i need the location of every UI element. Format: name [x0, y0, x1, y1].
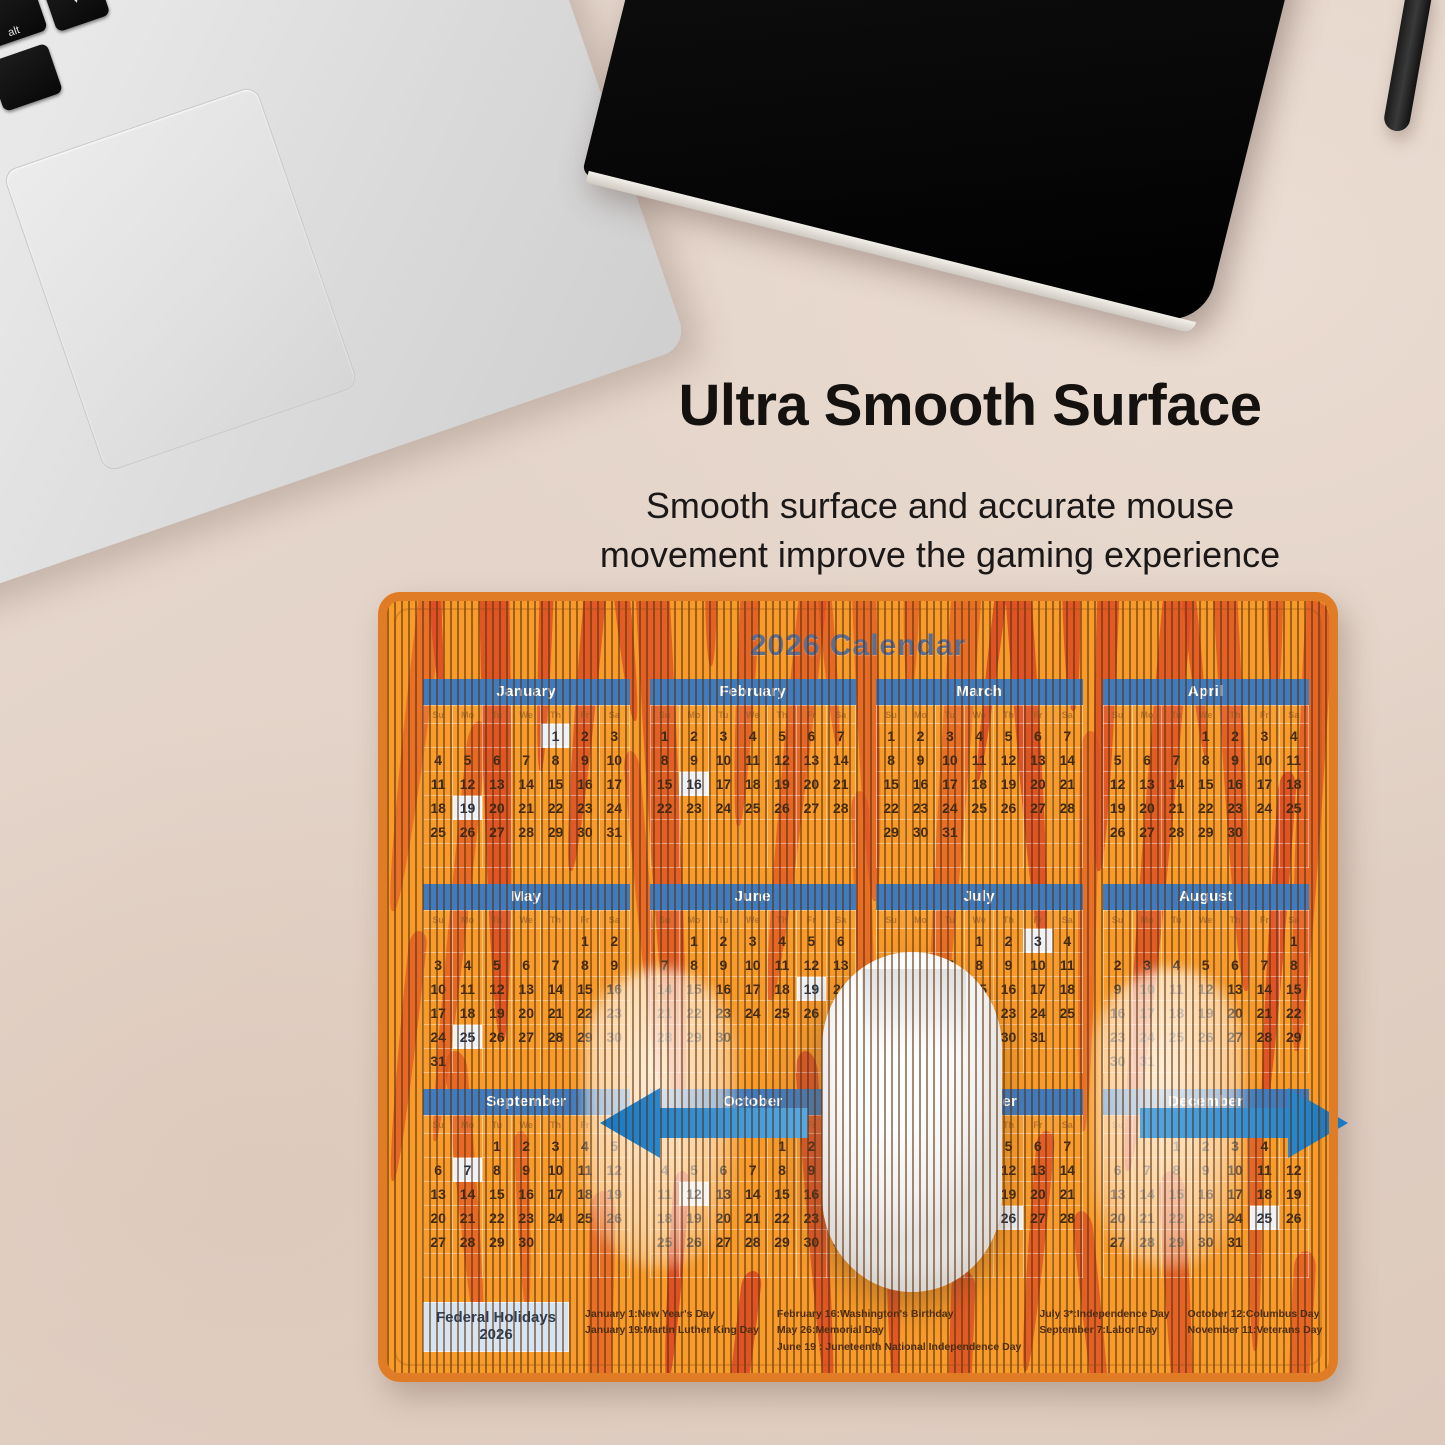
weekday-header: Th — [541, 1116, 570, 1134]
weekday-header: We — [965, 911, 994, 929]
day-cell: 16 — [994, 977, 1023, 1001]
day-cell: 2 — [1103, 953, 1132, 977]
day-cell-empty — [650, 844, 679, 868]
week-row: 123456 — [650, 929, 856, 953]
day-cell: 8 — [482, 1158, 511, 1182]
day-cell: 14 — [541, 977, 570, 1001]
day-cell: 15 — [650, 772, 679, 796]
day-cell-empty — [994, 820, 1023, 844]
arrow-down-key-icon: ▼ — [41, 0, 111, 33]
badge-line-1: Federal Holidays — [436, 1309, 556, 1326]
week-row: 123 — [424, 724, 630, 748]
week-row: 3456789 — [424, 953, 630, 977]
day-cell: 5 — [1103, 748, 1132, 772]
day-cell: 6 — [1023, 1134, 1052, 1158]
day-cell: 17 — [541, 1182, 570, 1206]
day-cell: 22 — [1191, 796, 1220, 820]
day-cell: 10 — [424, 977, 453, 1001]
day-cell: 24 — [935, 796, 964, 820]
day-cell: 3 — [709, 724, 738, 748]
holiday-column: February 16:Washington's BirthdayMay 26:… — [777, 1306, 1021, 1355]
day-cell: 17 — [600, 772, 629, 796]
arrow-left-icon — [598, 1086, 808, 1165]
day-cell: 6 — [424, 1158, 453, 1182]
day-cell: 17 — [1250, 772, 1279, 796]
weekday-header: Mo — [453, 911, 482, 929]
week-row: 22232425262728 — [650, 796, 856, 820]
day-cell: 24 — [1250, 796, 1279, 820]
weekday-header: Fr — [797, 706, 826, 724]
day-cell: 21 — [1162, 796, 1191, 820]
day-cell: 1 — [482, 1134, 511, 1158]
day-cell-empty — [453, 929, 482, 953]
day-cell-empty — [453, 1254, 482, 1278]
calendar-month: FebruarySuMoTuWeThFrSa123456789101112131… — [650, 679, 857, 868]
day-cell: 14 — [1053, 1158, 1082, 1182]
day-cell-empty — [738, 820, 767, 844]
day-cell-empty — [1220, 929, 1249, 953]
day-cell: 20 — [512, 1001, 541, 1025]
day-cell: 13 — [797, 748, 826, 772]
day-cell: 26 — [1103, 820, 1132, 844]
day-cell-empty — [570, 1230, 599, 1254]
day-cell: 15 — [1279, 977, 1308, 1001]
day-cell: 7 — [1162, 748, 1191, 772]
day-cell: 5 — [797, 929, 826, 953]
day-cell-empty — [1220, 844, 1249, 868]
day-cell-holiday: 16 — [679, 772, 708, 796]
weekday-header: We — [965, 706, 994, 724]
day-cell: 29 — [1191, 820, 1220, 844]
day-cell: 4 — [424, 748, 453, 772]
day-cell: 21 — [826, 772, 855, 796]
day-cell: 24 — [541, 1206, 570, 1230]
day-cell-empty — [709, 844, 738, 868]
month-name: May — [423, 884, 630, 910]
page-title: Ultra Smooth Surface — [560, 372, 1380, 439]
weekday-header: Su — [650, 706, 679, 724]
day-cell: 22 — [877, 796, 906, 820]
weekday-header: Sa — [1279, 911, 1308, 929]
day-cell: 26 — [767, 796, 796, 820]
week-row — [424, 844, 630, 868]
subtitle-line-2: movement improve the gaming experience — [500, 531, 1380, 580]
day-cell: 14 — [453, 1182, 482, 1206]
day-cell: 20 — [797, 772, 826, 796]
day-cell-empty — [424, 724, 453, 748]
day-cell-empty — [600, 844, 629, 868]
day-cell: 4 — [1279, 724, 1308, 748]
day-cell: 19 — [482, 1001, 511, 1025]
day-cell: 13 — [1023, 1158, 1052, 1182]
day-cell: 1 — [1191, 724, 1220, 748]
day-cell-empty — [767, 820, 796, 844]
week-row — [1103, 844, 1309, 868]
day-cell-holiday: 3 — [1023, 929, 1052, 953]
day-cell-empty — [424, 1254, 453, 1278]
day-cell: 3 — [935, 724, 964, 748]
day-cell: 13 — [482, 772, 511, 796]
day-cell: 25 — [1053, 1001, 1082, 1025]
weekday-header: We — [738, 911, 767, 929]
week-row — [650, 820, 856, 844]
day-cell-empty — [650, 929, 679, 953]
day-cell: 22 — [650, 796, 679, 820]
day-cell: 31 — [1023, 1025, 1052, 1049]
day-cell: 8 — [570, 953, 599, 977]
day-cell-empty — [1053, 1049, 1082, 1073]
day-cell: 16 — [570, 772, 599, 796]
computer-mouse[interactable] — [822, 952, 1002, 1292]
weekday-header: Su — [424, 1116, 453, 1134]
day-cell-empty — [424, 844, 453, 868]
holiday-entry: June 19 : Juneteenth National Independen… — [777, 1339, 1021, 1355]
weekday-header: Mo — [453, 1116, 482, 1134]
day-cell: 9 — [906, 748, 935, 772]
day-cell-empty — [1162, 929, 1191, 953]
weekday-header: Sa — [1053, 911, 1082, 929]
day-cell-empty — [1191, 844, 1220, 868]
day-cell-empty — [650, 820, 679, 844]
day-cell-empty — [1132, 929, 1161, 953]
weekday-header: Sa — [1053, 1116, 1082, 1134]
week-row: 15161718192021 — [877, 772, 1083, 796]
weekday-header: Fr — [1023, 706, 1052, 724]
day-cell-empty — [1023, 844, 1052, 868]
day-cell: 14 — [1250, 977, 1279, 1001]
day-cell: 19 — [767, 772, 796, 796]
day-cell-empty — [1023, 1254, 1052, 1278]
day-cell-empty — [877, 929, 906, 953]
day-cell: 28 — [1162, 820, 1191, 844]
weekday-header: Su — [1103, 706, 1132, 724]
weekday-header: We — [1191, 911, 1220, 929]
day-cell: 5 — [453, 748, 482, 772]
day-cell: 23 — [1220, 796, 1249, 820]
day-cell-empty — [1250, 1254, 1279, 1278]
day-cell: 24 — [1023, 1001, 1052, 1025]
day-cell: 2 — [709, 929, 738, 953]
drip — [387, 931, 428, 1181]
month-grid: SuMoTuWeThFrSa12345678910111213141516171… — [650, 705, 857, 868]
week-row: 19202122232425 — [1103, 796, 1309, 820]
weekday-header: We — [512, 1116, 541, 1134]
week-row: 293031 — [877, 820, 1083, 844]
weekday-header: Sa — [1279, 706, 1308, 724]
day-cell-empty — [1162, 844, 1191, 868]
day-cell-empty — [738, 844, 767, 868]
weekday-header: Mo — [1132, 911, 1161, 929]
day-cell: 1 — [679, 929, 708, 953]
calendar-title: 2026 Calendar — [387, 629, 1329, 663]
day-cell-empty — [1279, 1230, 1308, 1254]
weekday-header: Sa — [1053, 706, 1082, 724]
weekday-header: Th — [994, 911, 1023, 929]
day-cell-empty — [424, 1134, 453, 1158]
day-cell: 6 — [482, 748, 511, 772]
day-cell: 27 — [1023, 796, 1052, 820]
day-cell-empty — [1279, 1254, 1308, 1278]
day-cell: 24 — [709, 796, 738, 820]
day-cell-empty — [424, 929, 453, 953]
day-cell-empty — [512, 724, 541, 748]
day-cell: 30 — [906, 820, 935, 844]
day-cell-empty — [512, 844, 541, 868]
holiday-entry: September 7:Labor Day — [1039, 1322, 1169, 1338]
day-cell-empty — [1023, 1230, 1052, 1254]
day-cell: 19 — [1103, 796, 1132, 820]
day-cell: 5 — [767, 724, 796, 748]
day-cell: 25 — [424, 820, 453, 844]
day-cell-empty — [512, 1049, 541, 1073]
week-row — [424, 1254, 630, 1278]
day-cell-empty — [541, 844, 570, 868]
holiday-column: January 1:New Year's DayJanuary 19:Marti… — [585, 1306, 759, 1355]
weekday-header: Th — [541, 911, 570, 929]
weekday-header: Tu — [482, 1116, 511, 1134]
keyboard-key — [0, 43, 63, 112]
day-cell-empty — [797, 844, 826, 868]
day-cell: 17 — [424, 1001, 453, 1025]
day-cell: 21 — [1053, 1182, 1082, 1206]
day-cell: 17 — [1023, 977, 1052, 1001]
day-cell: 20 — [1023, 772, 1052, 796]
day-cell: 14 — [1162, 772, 1191, 796]
weekday-header: Mo — [906, 706, 935, 724]
day-cell: 28 — [541, 1025, 570, 1049]
weekday-header: We — [512, 706, 541, 724]
day-cell: 25 — [738, 796, 767, 820]
day-cell-empty — [1250, 844, 1279, 868]
day-cell: 8 — [541, 748, 570, 772]
day-cell: 2 — [994, 929, 1023, 953]
day-cell: 27 — [1132, 820, 1161, 844]
holiday-entry: May 26:Memorial Day — [777, 1322, 1021, 1338]
day-cell-empty — [541, 1230, 570, 1254]
day-cell: 18 — [1053, 977, 1082, 1001]
month-name: March — [876, 679, 1083, 705]
day-cell: 7 — [826, 724, 855, 748]
week-row: 22232425262728 — [877, 796, 1083, 820]
holiday-column: July 3*:Independence DaySeptember 7:Labo… — [1039, 1306, 1169, 1355]
day-cell: 29 — [877, 820, 906, 844]
day-cell-empty — [797, 820, 826, 844]
weekday-header: We — [738, 706, 767, 724]
day-cell-empty — [1103, 844, 1132, 868]
holiday-entry: November 11:Veterans Day — [1188, 1322, 1323, 1338]
keyboard-key-label: alt — [7, 24, 22, 39]
day-cell-empty — [1053, 1254, 1082, 1278]
day-cell-empty — [709, 1254, 738, 1278]
day-cell: 27 — [512, 1025, 541, 1049]
day-cell: 23 — [906, 796, 935, 820]
week-row: 11121314151617 — [424, 772, 630, 796]
day-cell: 4 — [767, 929, 796, 953]
week-row: 567891011 — [1103, 748, 1309, 772]
weekday-header: Su — [424, 706, 453, 724]
day-cell: 22 — [482, 1206, 511, 1230]
day-cell: 18 — [965, 772, 994, 796]
day-cell: 26 — [994, 796, 1023, 820]
day-cell-empty — [482, 929, 511, 953]
day-cell: 9 — [1220, 748, 1249, 772]
holiday-entry: February 16:Washington's Birthday — [777, 1306, 1021, 1322]
weekday-header: Fr — [797, 911, 826, 929]
day-cell: 27 — [482, 820, 511, 844]
day-cell: 9 — [679, 748, 708, 772]
day-cell: 19 — [1279, 1182, 1308, 1206]
keyboard-key-alt: alt — [0, 0, 48, 51]
day-cell: 1 — [570, 929, 599, 953]
day-cell: 8 — [650, 748, 679, 772]
day-cell-empty — [1053, 820, 1082, 844]
day-cell: 26 — [482, 1025, 511, 1049]
day-cell: 2 — [512, 1134, 541, 1158]
day-cell: 27 — [1023, 1206, 1052, 1230]
day-cell-empty — [679, 844, 708, 868]
day-cell: 10 — [600, 748, 629, 772]
holiday-entry: October 12:Columbus Day — [1188, 1306, 1323, 1322]
calendar-month: MarchSuMoTuWeThFrSa123456789101112131415… — [876, 679, 1083, 868]
day-cell-holiday: 19 — [453, 796, 482, 820]
day-cell: 21 — [453, 1206, 482, 1230]
day-cell: 9 — [512, 1158, 541, 1182]
day-cell: 6 — [826, 929, 855, 953]
day-cell: 13 — [424, 1182, 453, 1206]
day-cell-empty — [1103, 1254, 1132, 1278]
day-cell: 3 — [424, 953, 453, 977]
day-cell: 12 — [994, 748, 1023, 772]
day-cell-empty — [826, 844, 855, 868]
week-row: 2345678 — [1103, 953, 1309, 977]
weekday-header: Fr — [570, 706, 599, 724]
arrow-right-icon — [1140, 1086, 1350, 1165]
weekday-header: Mo — [906, 911, 935, 929]
day-cell: 9 — [994, 953, 1023, 977]
day-cell-empty — [1132, 724, 1161, 748]
month-name: August — [1103, 884, 1310, 910]
day-cell-empty — [453, 724, 482, 748]
weekday-header: Fr — [570, 911, 599, 929]
day-cell-empty — [709, 820, 738, 844]
day-cell: 28 — [1053, 1206, 1082, 1230]
week-row: 891011121314 — [877, 748, 1083, 772]
day-cell-empty — [679, 820, 708, 844]
day-cell: 21 — [541, 1001, 570, 1025]
day-cell: 2 — [1220, 724, 1249, 748]
day-cell: 3 — [541, 1134, 570, 1158]
day-cell: 11 — [738, 748, 767, 772]
day-cell-empty — [541, 929, 570, 953]
day-cell: 31 — [935, 820, 964, 844]
month-name: April — [1103, 679, 1310, 705]
day-cell: 26 — [453, 820, 482, 844]
day-cell: 12 — [767, 748, 796, 772]
calendar-month: AprilSuMoTuWeThFrSa123456789101112131415… — [1103, 679, 1310, 868]
day-cell-empty — [1053, 1025, 1082, 1049]
day-cell: 28 — [453, 1230, 482, 1254]
day-cell-holiday: 25 — [1250, 1206, 1279, 1230]
day-cell: 9 — [709, 953, 738, 977]
day-cell: 25 — [1279, 796, 1308, 820]
day-cell-empty — [1220, 1254, 1249, 1278]
day-cell: 13 — [1132, 772, 1161, 796]
weekday-header: Tu — [709, 706, 738, 724]
day-cell: 28 — [1053, 796, 1082, 820]
weekday-header: We — [512, 911, 541, 929]
day-cell: 9 — [600, 953, 629, 977]
day-cell: 20 — [482, 796, 511, 820]
day-cell: 12 — [1103, 772, 1132, 796]
week-row: 12 — [424, 929, 630, 953]
weekday-header: Th — [541, 706, 570, 724]
day-cell: 20 — [1023, 1182, 1052, 1206]
day-cell: 24 — [600, 796, 629, 820]
weekday-header: Fr — [1023, 1116, 1052, 1134]
day-cell: 10 — [541, 1158, 570, 1182]
day-cell: 1 — [965, 929, 994, 953]
weekday-header: Tu — [1162, 911, 1191, 929]
day-cell: 3 — [738, 929, 767, 953]
holiday-entry: January 1:New Year's Day — [585, 1306, 759, 1322]
day-cell: 8 — [1191, 748, 1220, 772]
day-cell: 10 — [709, 748, 738, 772]
day-cell: 9 — [570, 748, 599, 772]
day-cell: 6 — [1220, 953, 1249, 977]
day-cell-empty — [482, 844, 511, 868]
weekday-header: Mo — [453, 706, 482, 724]
day-cell: 7 — [541, 953, 570, 977]
day-cell: 18 — [1279, 772, 1308, 796]
day-cell-empty — [482, 1049, 511, 1073]
weekday-header: Sa — [600, 911, 629, 929]
day-cell: 20 — [1132, 796, 1161, 820]
day-cell: 15 — [541, 772, 570, 796]
month-name: January — [423, 679, 630, 705]
holiday-column: October 12:Columbus DayNovember 11:Veter… — [1188, 1306, 1323, 1355]
week-row: 45678910 — [424, 748, 630, 772]
day-cell: 1 — [1279, 929, 1308, 953]
day-cell: 2 — [906, 724, 935, 748]
week-row — [877, 844, 1083, 868]
day-cell: 21 — [1053, 772, 1082, 796]
week-row: 1234567 — [650, 724, 856, 748]
day-cell: 10 — [1023, 953, 1052, 977]
month-name: February — [650, 679, 857, 705]
day-cell: 4 — [965, 724, 994, 748]
day-cell: 24 — [424, 1025, 453, 1049]
calendar-month: JanuarySuMoTuWeThFrSa1234567891011121314… — [423, 679, 630, 868]
day-cell: 1 — [650, 724, 679, 748]
week-row: 25262728293031 — [424, 820, 630, 844]
day-cell: 10 — [935, 748, 964, 772]
day-cell-empty — [1132, 844, 1161, 868]
day-cell-empty — [512, 929, 541, 953]
weekday-header: Tu — [935, 706, 964, 724]
day-cell: 11 — [1053, 953, 1082, 977]
day-cell: 7 — [1053, 1134, 1082, 1158]
day-cell: 17 — [935, 772, 964, 796]
day-cell-empty — [512, 1254, 541, 1278]
day-cell-empty — [1279, 1049, 1308, 1073]
month-grid: SuMoTuWeThFrSa12345678910111213141516171… — [876, 705, 1083, 868]
day-cell: 2 — [679, 724, 708, 748]
day-cell: 16 — [906, 772, 935, 796]
day-cell: 11 — [965, 748, 994, 772]
weekday-header: Tu — [482, 706, 511, 724]
day-cell: 2 — [570, 724, 599, 748]
day-cell-empty — [570, 1254, 599, 1278]
